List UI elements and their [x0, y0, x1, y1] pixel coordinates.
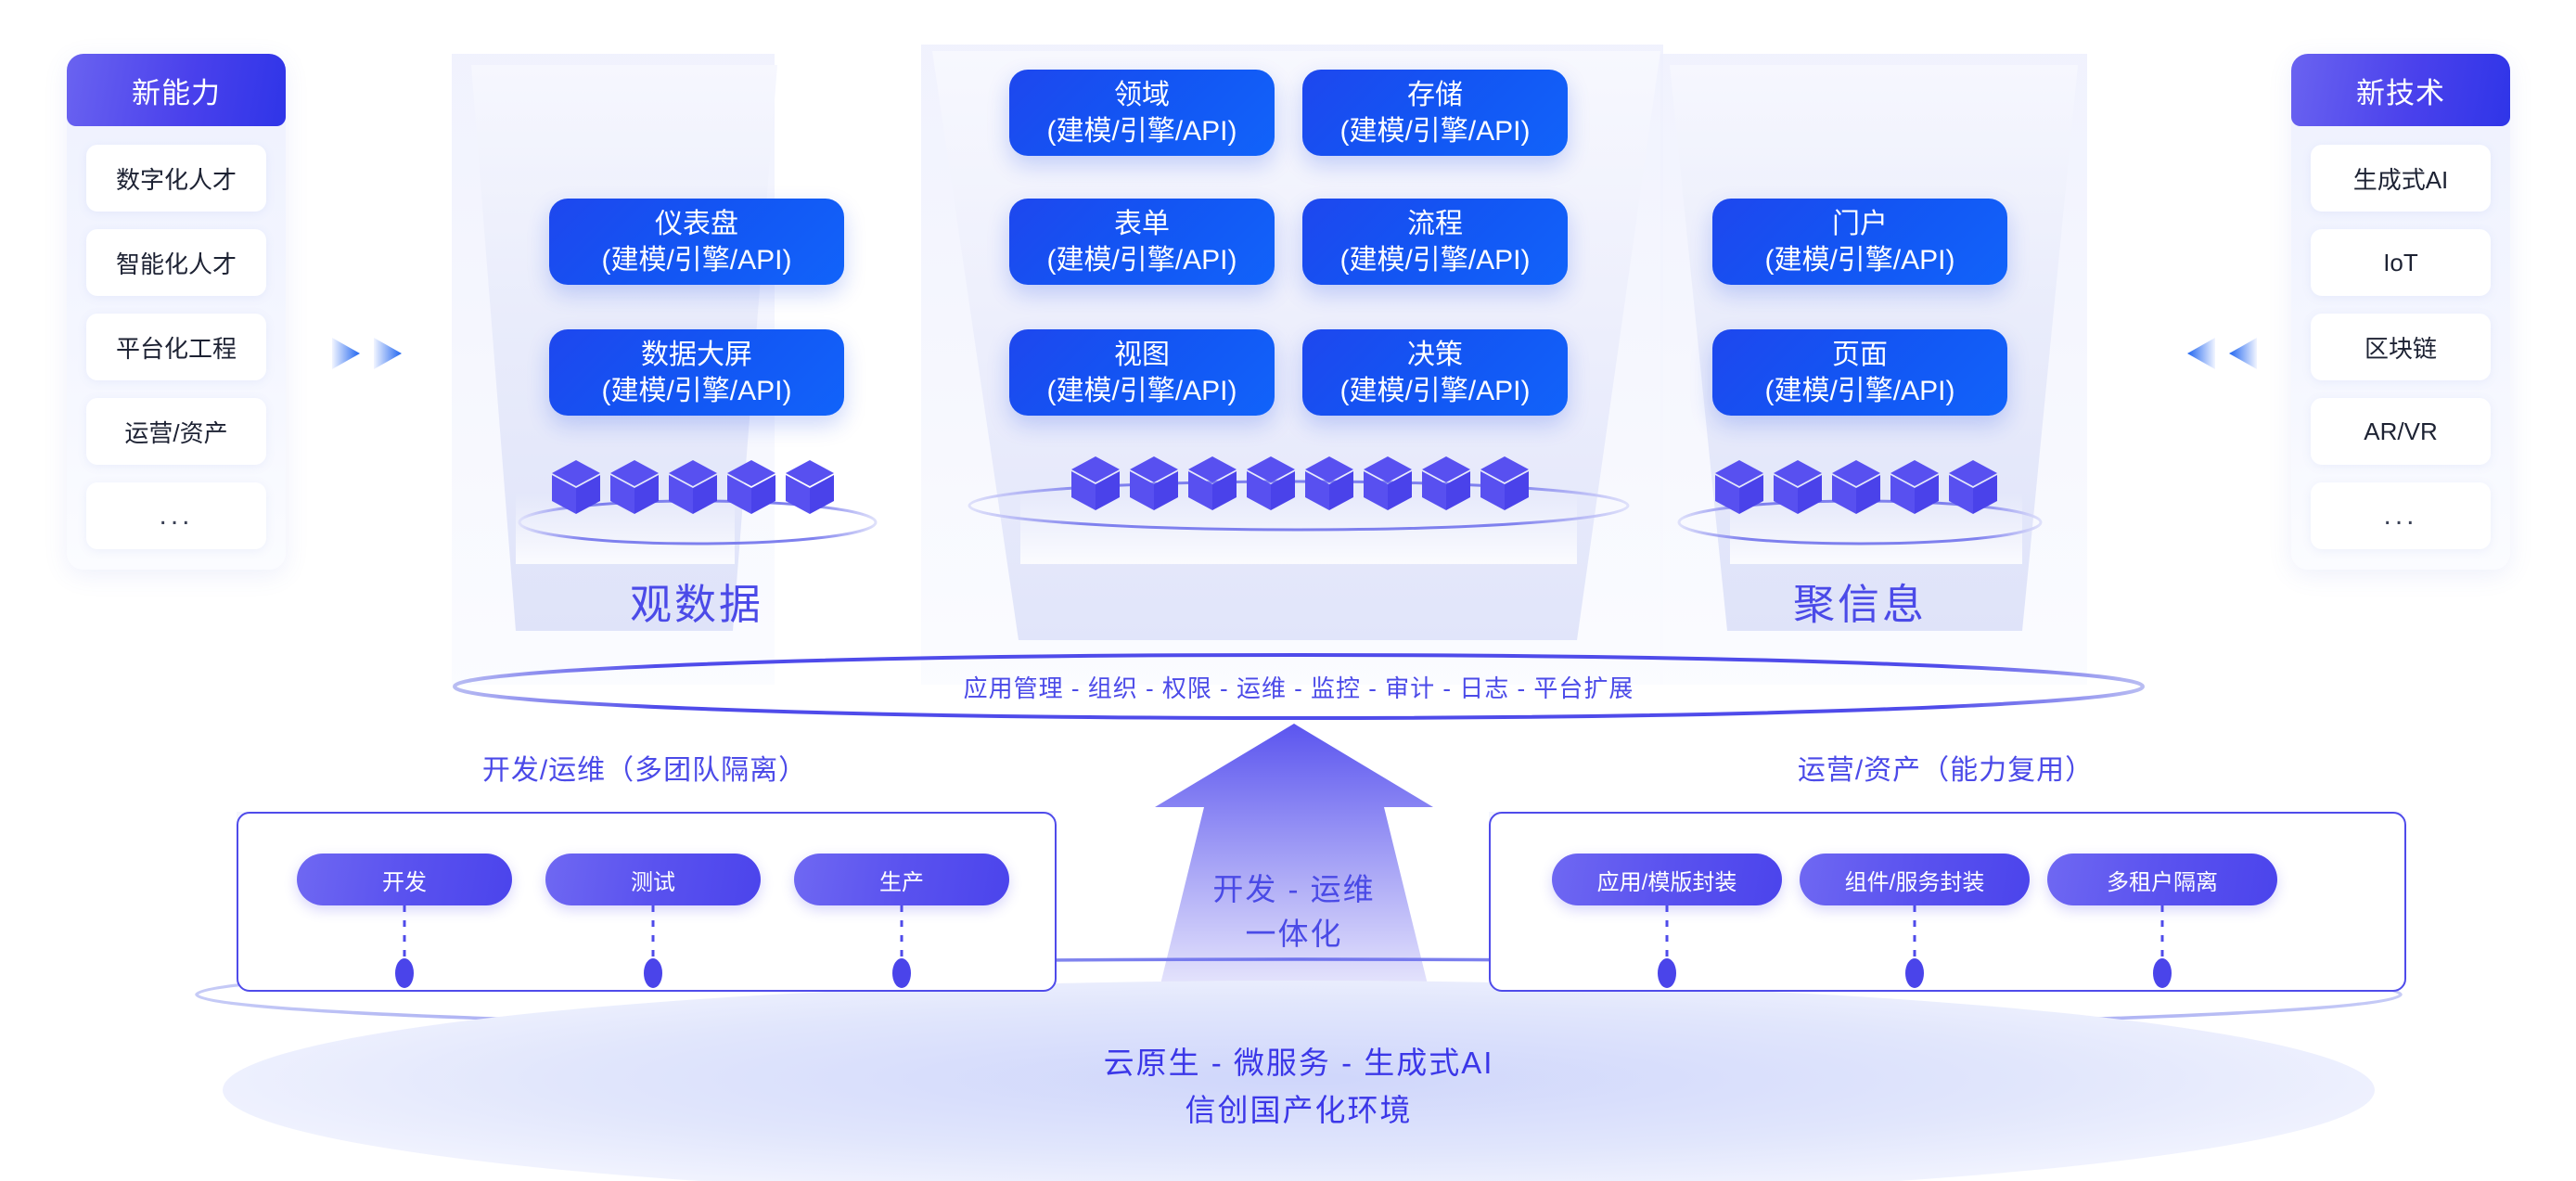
left-panel-item-0[interactable]: 数字化人才	[86, 145, 266, 212]
left-panel-item-1[interactable]: 智能化人才	[86, 229, 266, 296]
card-data-screen[interactable]: 数据大屏 (建模/引擎/API)	[549, 329, 844, 416]
cube-icon	[1185, 455, 1239, 512]
card-subtitle: (建模/引擎/API)	[1339, 242, 1530, 278]
card-title: 流程	[1407, 206, 1463, 242]
ops-assets-group-title: 运营/资产（能力复用）	[1489, 747, 2403, 788]
card-subtitle: (建模/引擎/API)	[1046, 242, 1237, 278]
cube-icon	[666, 458, 720, 516]
card-dashboard[interactable]: 仪表盘 (建模/引擎/API)	[549, 199, 844, 285]
left-panel-item-2[interactable]: 平台化工程	[86, 314, 266, 380]
card-subtitle: (建模/引擎/API)	[601, 242, 791, 278]
cube-icon	[1419, 455, 1473, 512]
devops-arrow-line1: 开发 - 运维	[1155, 867, 1433, 912]
pill-component-service-packaging[interactable]: 组件/服务封装	[1800, 854, 2030, 905]
card-storage[interactable]: 存储 (建模/引擎/API)	[1302, 70, 1568, 156]
left-panel-header: 新能力	[67, 54, 286, 126]
cube-icon	[1712, 458, 1766, 516]
card-view[interactable]: 视图 (建模/引擎/API)	[1009, 329, 1275, 416]
pill-multi-tenant-isolation[interactable]: 多租户隔离	[2047, 854, 2277, 905]
card-title: 表单	[1114, 206, 1170, 242]
card-title: 决策	[1407, 337, 1463, 373]
devops-arrow-label: 开发 - 运维 一体化	[1155, 867, 1433, 956]
pill-label: 开发	[382, 864, 427, 896]
cube-icon	[549, 458, 603, 516]
card-subtitle: (建模/引擎/API)	[1339, 373, 1530, 409]
card-title: 数据大屏	[641, 337, 752, 373]
left-panel-item-3[interactable]: 运营/资产	[86, 398, 266, 465]
cube-icon	[1946, 458, 2000, 516]
devops-arrow-line2: 一体化	[1155, 912, 1433, 956]
right-flow-chevrons	[2185, 336, 2259, 371]
pill-label: 多租户隔离	[2107, 864, 2218, 896]
card-decision[interactable]: 决策 (建模/引擎/API)	[1302, 329, 1568, 416]
cube-icon	[1069, 455, 1122, 512]
card-subtitle: (建模/引擎/API)	[1046, 113, 1237, 149]
dev-ops-connector-lines	[237, 905, 1053, 998]
card-portal[interactable]: 门户 (建模/引擎/API)	[1712, 199, 2007, 285]
card-form[interactable]: 表单 (建模/引擎/API)	[1009, 199, 1275, 285]
diagram-background-layer	[0, 0, 2576, 1181]
cube-icon	[1302, 455, 1356, 512]
card-subtitle: (建模/引擎/API)	[601, 373, 791, 409]
right-panel-item-2[interactable]: 区块链	[2311, 314, 2491, 380]
pill-app-template-packaging[interactable]: 应用/模版封装	[1552, 854, 1782, 905]
card-subtitle: (建模/引擎/API)	[1339, 113, 1530, 149]
cube-icon	[1127, 455, 1181, 512]
cube-icon	[783, 458, 837, 516]
left-flow-chevrons	[330, 336, 404, 371]
chevron-left-icon	[2185, 336, 2217, 371]
card-page[interactable]: 页面 (建模/引擎/API)	[1712, 329, 2007, 416]
pill-test[interactable]: 测试	[545, 854, 761, 905]
right-panel-list: 生成式AI IoT 区块链 AR/VR ...	[2291, 126, 2510, 570]
pill-label: 组件/服务封装	[1845, 864, 1985, 896]
cube-icon	[608, 458, 661, 516]
card-subtitle: (建模/引擎/API)	[1046, 373, 1237, 409]
card-title: 页面	[1832, 337, 1888, 373]
cube-icon	[724, 458, 778, 516]
card-title: 领域	[1114, 77, 1170, 113]
foundation-line2: 信创国产化环境	[928, 1086, 1670, 1134]
cube-icon	[1829, 458, 1883, 516]
left-funnel-caption: 观数据	[549, 571, 844, 631]
pill-label: 生产	[879, 864, 924, 896]
foundation-band-text: 云原生 - 微服务 - 生成式AI 信创国产化环境	[928, 1039, 1670, 1134]
left-panel-item-4[interactable]: ...	[86, 482, 266, 549]
ops-assets-connector-lines	[1489, 905, 2403, 998]
left-panel-list: 数字化人才 智能化人才 平台化工程 运营/资产 ...	[67, 126, 286, 570]
cube-icon	[1361, 455, 1415, 512]
right-funnel-cube-row	[1712, 458, 2000, 516]
left-capabilities-panel: 新能力 数字化人才 智能化人才 平台化工程 运营/资产 ...	[67, 54, 286, 570]
architecture-diagram-canvas: 新能力 数字化人才 智能化人才 平台化工程 运营/资产 ... 新技术 生成式A…	[0, 0, 2576, 1181]
cube-icon	[1244, 455, 1298, 512]
right-panel-item-0[interactable]: 生成式AI	[2311, 145, 2491, 212]
card-subtitle: (建模/引擎/API)	[1764, 242, 1954, 278]
right-funnel-caption: 聚信息	[1712, 571, 2007, 631]
pill-dev[interactable]: 开发	[297, 854, 512, 905]
card-title: 存储	[1407, 77, 1463, 113]
pill-label: 测试	[631, 864, 675, 896]
cube-icon	[1478, 455, 1532, 512]
cube-icon	[1888, 458, 1942, 516]
pill-label: 应用/模版封装	[1597, 864, 1737, 896]
card-title: 仪表盘	[655, 206, 738, 242]
pill-prod[interactable]: 生产	[794, 854, 1009, 905]
cube-icon	[1771, 458, 1825, 516]
chevron-right-icon	[372, 336, 404, 371]
right-panel-item-1[interactable]: IoT	[2311, 229, 2491, 296]
right-panel-item-4[interactable]: ...	[2311, 482, 2491, 549]
right-technologies-panel: 新技术 生成式AI IoT 区块链 AR/VR ...	[2291, 54, 2510, 570]
chevron-right-icon	[330, 336, 362, 371]
right-panel-header: 新技术	[2291, 54, 2510, 126]
card-process[interactable]: 流程 (建模/引擎/API)	[1302, 199, 1568, 285]
left-funnel-cube-row	[549, 458, 837, 516]
foundation-line1: 云原生 - 微服务 - 生成式AI	[928, 1039, 1670, 1086]
card-title: 门户	[1832, 206, 1888, 242]
card-title: 视图	[1114, 337, 1170, 373]
platform-management-label: 应用管理 - 组织 - 权限 - 运维 - 监控 - 审计 - 日志 - 平台扩…	[835, 670, 1762, 704]
card-domain[interactable]: 领域 (建模/引擎/API)	[1009, 70, 1275, 156]
right-panel-item-3[interactable]: AR/VR	[2311, 398, 2491, 465]
card-subtitle: (建模/引擎/API)	[1764, 373, 1954, 409]
center-funnel-cube-row	[1069, 455, 1532, 512]
chevron-left-icon	[2227, 336, 2259, 371]
dev-ops-group-title: 开发/运维（多团队隔离）	[237, 747, 1053, 788]
